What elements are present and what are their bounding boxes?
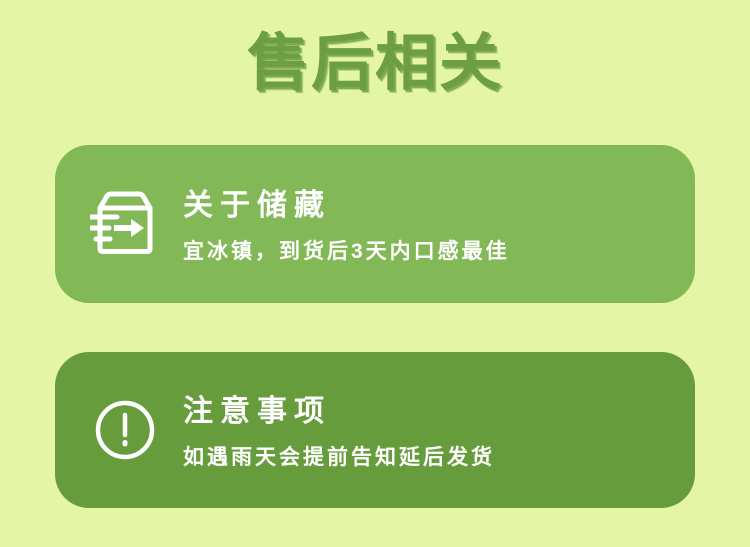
card-notice-subtitle: 如遇雨天会提前告知延后发货 xyxy=(183,445,495,471)
page-title: 售后相关 xyxy=(0,28,750,100)
archive-box-arrow-icon xyxy=(55,145,183,303)
card-notice[interactable]: 注意事项 如遇雨天会提前告知延后发货 xyxy=(55,352,695,508)
card-storage-subtitle: 宜冰镇，到货后3天内口感最佳 xyxy=(183,239,510,265)
card-notice-title: 注意事项 xyxy=(183,393,495,431)
exclamation-circle-icon xyxy=(55,352,183,508)
card-storage-title: 关于储藏 xyxy=(183,187,510,225)
after-sales-page: 售后相关 关于储藏 宜冰镇，到货后3天内口感最佳 xyxy=(0,0,750,547)
card-storage-body: 关于储藏 宜冰镇，到货后3天内口感最佳 xyxy=(183,183,510,265)
card-storage[interactable]: 关于储藏 宜冰镇，到货后3天内口感最佳 xyxy=(55,145,695,303)
card-notice-body: 注意事项 如遇雨天会提前告知延后发货 xyxy=(183,389,495,471)
